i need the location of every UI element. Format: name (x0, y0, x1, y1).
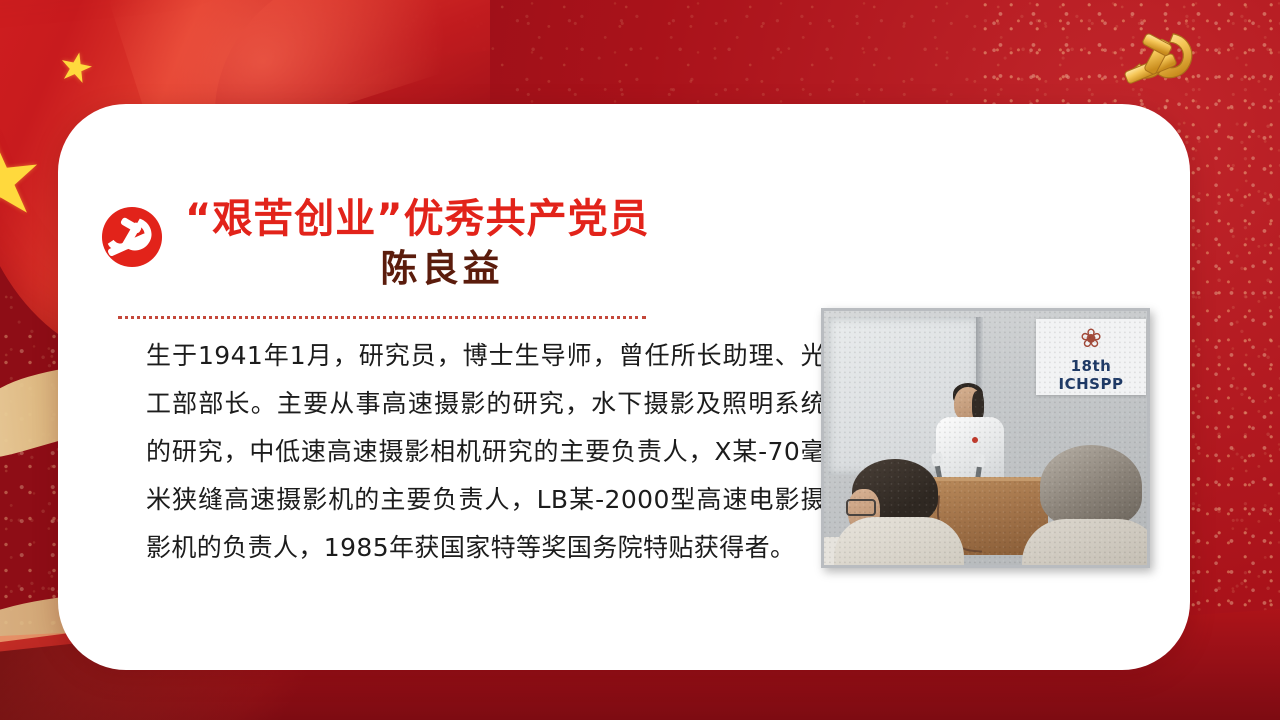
title-block: “艰苦创业”优秀共产党员 陈良益 (101, 196, 721, 292)
party-badge-icon (101, 206, 163, 268)
page-title: “艰苦创业”优秀共产党员 (185, 196, 721, 242)
dotted-divider (118, 316, 646, 319)
person-name: 陈良益 (185, 244, 721, 292)
biography-paragraph: 生于1941年1月，研究员，博士生导师，曾任所长助理、光工部部长。主要从事高速摄… (146, 332, 826, 572)
party-emblem-icon (1106, 22, 1210, 106)
slide-root: ★ ★ ★ ★ ★ (0, 0, 1280, 720)
photo-film-grain (824, 311, 1147, 565)
content-card: “艰苦创业”优秀共产党员 陈良益 生于1941年1月，研究员，博士生导师，曾任所… (58, 104, 1190, 670)
person-photo: ❀ 18th ICHSPP (821, 308, 1150, 568)
photo-inner: ❀ 18th ICHSPP (824, 311, 1147, 565)
title-text-group: “艰苦创业”优秀共产党员 陈良益 (185, 196, 721, 292)
